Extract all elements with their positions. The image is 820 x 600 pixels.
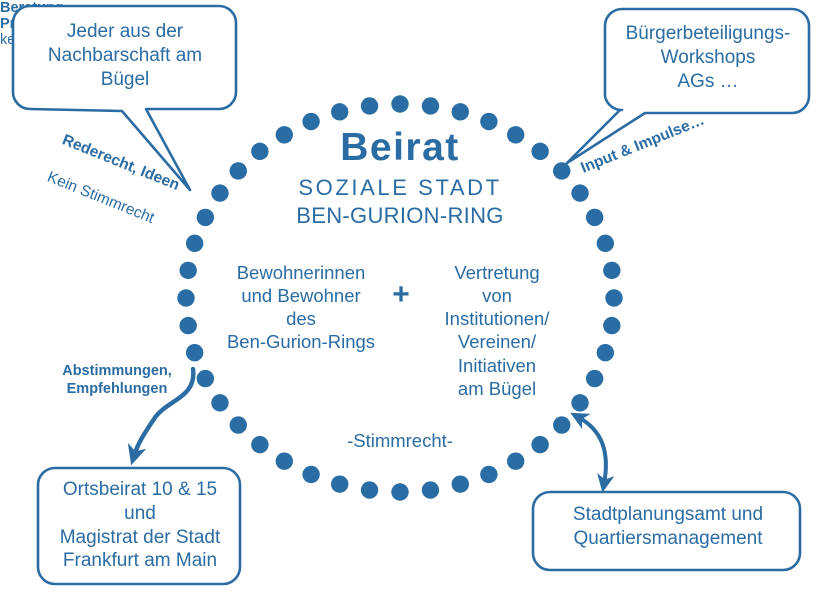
ring-dot: [251, 143, 268, 160]
ring-dot: [197, 370, 214, 387]
arrow-label-abstimmungen: Abstimmungen, Empfehlungen: [46, 362, 188, 398]
ring-dot: [211, 184, 228, 201]
box-bottom-right-text: Stadtplanungsamt und Quartiersmanagement: [540, 503, 796, 551]
ring-dot: [361, 481, 378, 498]
ring-dot: [603, 317, 620, 334]
ring-dot: [391, 483, 408, 500]
ring-dot: [276, 453, 293, 470]
ring-dot: [531, 436, 548, 453]
ring-dot: [179, 262, 196, 279]
ring-dot: [597, 235, 614, 252]
ring-dot: [597, 344, 614, 361]
plus-icon: +: [384, 276, 418, 314]
ring-dot: [553, 162, 570, 179]
members-residents-text: Bewohnerinnen und Bewohner des Ben-Gurio…: [212, 261, 390, 354]
ring-dot: [507, 126, 524, 143]
connector-label-input-impulse: Input & Impulse…: [578, 111, 708, 179]
members-institutions-text: Vertretung von Institutionen/ Vereinen/ …: [422, 261, 572, 400]
page-subtitle-location: BEN-GURION-RING: [280, 202, 520, 230]
ring-dot: [177, 289, 194, 306]
ring-dot: [452, 103, 469, 120]
page-title: Beirat: [300, 124, 500, 173]
ring-dot: [571, 394, 588, 411]
arrow-label-beratung-line1: Beratung,: [0, 0, 172, 16]
ring-dot: [586, 209, 603, 226]
ring-dot: [197, 209, 214, 226]
box-bottom-left-text: Ortsbeirat 10 & 15 und Magistrat der Sta…: [44, 478, 236, 573]
ring-dot: [211, 394, 228, 411]
ring-dot: [251, 436, 268, 453]
ring-dot: [302, 466, 319, 483]
ring-dot: [361, 97, 378, 114]
ring-dot: [276, 126, 293, 143]
ring-dot: [603, 262, 620, 279]
ring-dot: [331, 103, 348, 120]
diagram-canvas: Jeder aus der Nachbarschaft am Bügel Bür…: [0, 0, 820, 600]
ring-dot: [531, 143, 548, 160]
ring-dot: [179, 317, 196, 334]
arrow-beratung: [578, 417, 606, 484]
ring-dot: [230, 162, 247, 179]
ring-dot: [452, 475, 469, 492]
page-subtitle-program: SOZIALE STADT: [280, 174, 520, 202]
speech-bubble-top-right-text: Bürgerbeteiligungs- Workshops AGs …: [612, 22, 804, 93]
voting-rights-note: -Stimmrecht-: [330, 429, 470, 452]
ring-dot: [586, 370, 603, 387]
ring-dot: [422, 97, 439, 114]
ring-dot: [186, 235, 203, 252]
ring-dot: [331, 475, 348, 492]
ring-dot: [186, 344, 203, 361]
ring-dot: [507, 453, 524, 470]
ring-dot: [422, 481, 439, 498]
ring-dot: [571, 184, 588, 201]
ring-dot: [553, 416, 570, 433]
ring-dot: [480, 466, 497, 483]
speech-bubble-top-left-text: Jeder aus der Nachbarschaft am Bügel: [22, 20, 228, 91]
ring-dot: [605, 289, 622, 306]
ring-dot: [230, 416, 247, 433]
connector-label-rederecht: Rederecht, Ideen Kein Stimmrecht: [36, 112, 190, 252]
ring-dot: [391, 95, 408, 112]
